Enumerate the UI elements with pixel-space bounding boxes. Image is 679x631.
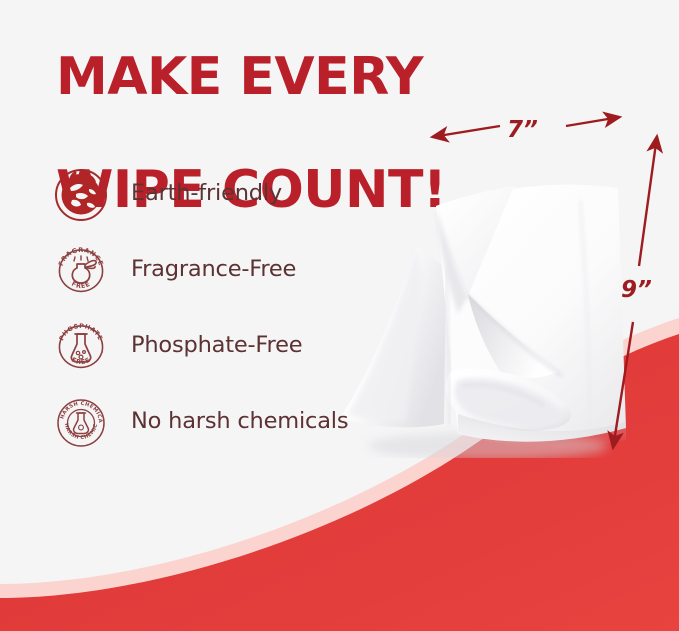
globe-leaf-icon [50, 162, 112, 224]
svg-text:PHOSPHATE: PHOSPHATE [58, 323, 103, 342]
badge-bottom-text: FREE [70, 280, 92, 291]
feature-row-fragrance-free: FRAGRANCE FREE Fragrance-Free [50, 231, 390, 307]
height-arrow-bottom [613, 322, 633, 448]
feature-label-phosphate-free: Phosphate-Free [131, 332, 302, 358]
flask-no-chemicals-icon: NO HARSH CHEMICALS NO HARSH CHEMICALS [50, 390, 112, 452]
headline-line-1: MAKE EVERY [56, 49, 616, 106]
badge-top-text: PHOSPHATE [58, 323, 103, 342]
feature-row-no-harsh-chemicals: NO HARSH CHEMICALS NO HARSH CHEMICALS No… [50, 383, 390, 459]
feature-list: Earth-friendly FRAGRANCE FREE [50, 155, 390, 459]
height-dimension-label: 9” [621, 277, 652, 303]
feature-row-phosphate-free: PHOSPHATE FREE Phosphate-Free [50, 307, 390, 383]
perfume-bottle-icon: FRAGRANCE FREE [50, 238, 112, 300]
height-arrow-top [639, 136, 657, 266]
feature-row-earth-friendly: Earth-friendly [50, 155, 390, 231]
svg-text:FREE: FREE [70, 280, 92, 291]
feature-label-no-harsh-chemicals: No harsh chemicals [131, 408, 348, 434]
feature-label-fragrance-free: Fragrance-Free [131, 256, 296, 282]
feature-label-earth-friendly: Earth-friendly [131, 180, 282, 206]
product-feature-poster: MAKE EVERY WIPE COUNT! [0, 0, 679, 631]
width-dimension-label: 7” [507, 117, 538, 143]
flask-icon: PHOSPHATE FREE [50, 314, 112, 376]
